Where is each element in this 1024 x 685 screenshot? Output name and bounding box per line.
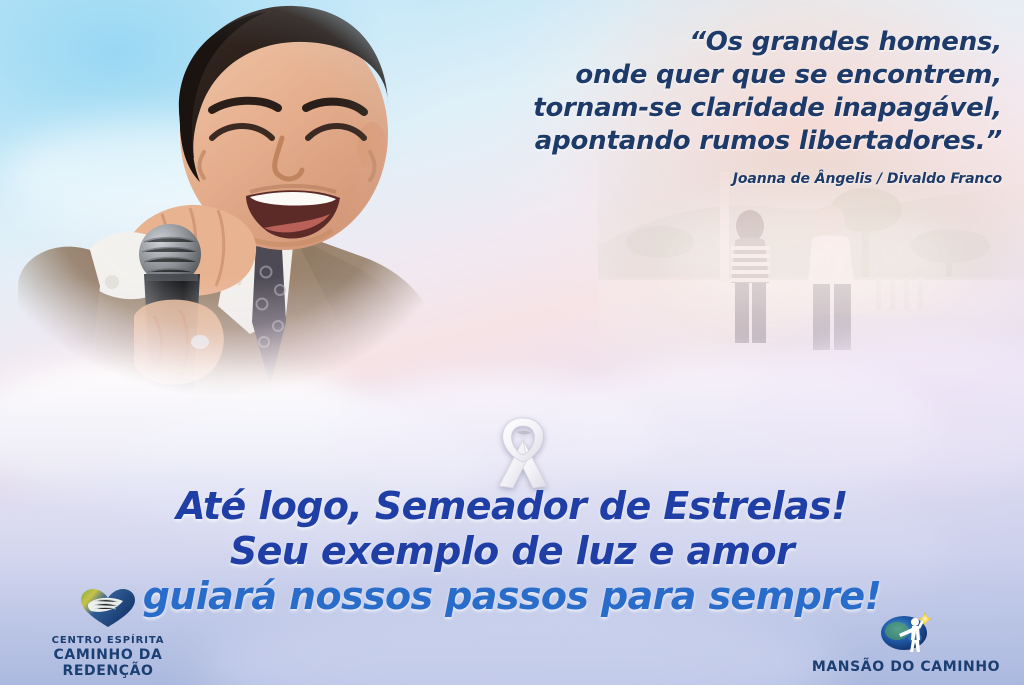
headline-line-1: Até logo, Semeador de Estrelas! (0, 484, 1024, 529)
logo-centro-espirita: CENTRO ESPÍRITA CAMINHO DA REDENÇÃO (8, 587, 208, 679)
headline-line-2: Seu exemplo de luz e amor (0, 529, 1024, 574)
globe-figure-star-icon (796, 609, 1016, 657)
logo-mansao-label: MANSÃO DO CAMINHO (796, 659, 1016, 675)
memorial-poster: “Os grandes homens, onde quer que se enc… (0, 0, 1024, 685)
quote-line-2: onde quer que se encontrem, (372, 59, 1002, 92)
quote-line-4: apontando rumos libertadores.” (372, 125, 1002, 158)
quote-line-1: “Os grandes homens, (372, 26, 1002, 59)
logo-centro-espirita-line1: CENTRO ESPÍRITA (8, 635, 208, 647)
quote-line-3: tornam-se claridade inapagável, (372, 92, 1002, 125)
logo-mansao-do-caminho: MANSÃO DO CAMINHO (796, 609, 1016, 675)
heart-hands-icon (8, 587, 208, 633)
quote-attribution: Joanna de Ângelis / Divaldo Franco (372, 171, 1002, 187)
white-mourning-ribbon (487, 410, 559, 490)
logo-centro-espirita-line2: CAMINHO DA REDENÇÃO (8, 647, 208, 679)
quote-block: “Os grandes homens, onde quer que se enc… (372, 26, 1002, 187)
